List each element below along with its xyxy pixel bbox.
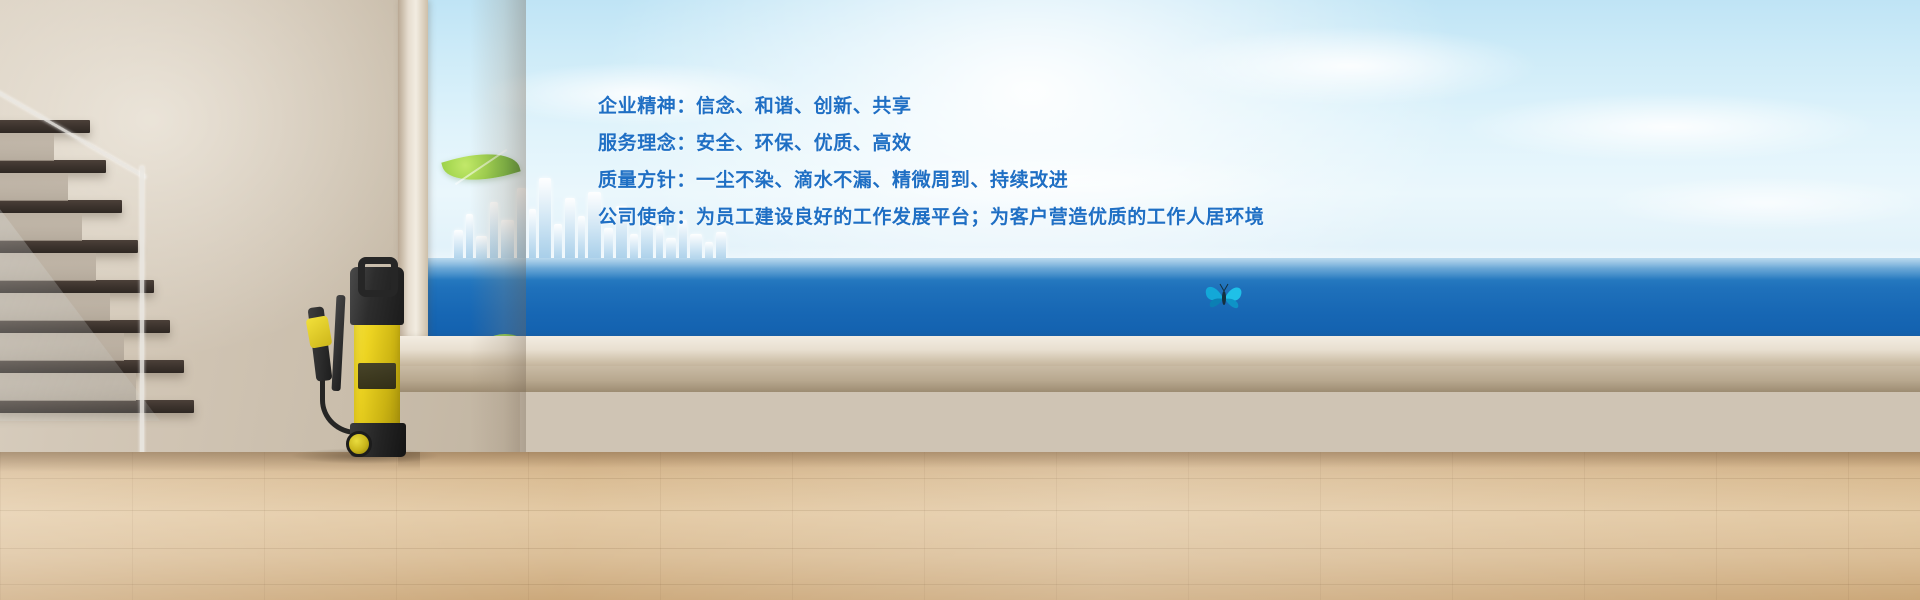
wall-skirting	[398, 366, 1920, 392]
wall-corner-shade	[470, 0, 526, 470]
company-culture-banner: 企业精神：信念、和谐、创新、共享 服务理念：安全、环保、优质、高效 质量方针：一…	[0, 0, 1920, 600]
slogan-line-mission: 公司使命：为员工建设良好的工作发展平台；为客户营造优质的工作人居环境	[598, 199, 1358, 236]
washer-label	[358, 363, 396, 389]
staircase	[0, 120, 200, 460]
floor-wall-shadow	[398, 452, 1920, 468]
floor-reflection	[0, 452, 1920, 600]
washer-wheel	[346, 431, 372, 457]
washer-handle	[358, 257, 398, 297]
stair-post	[140, 166, 144, 466]
slogan-line-spirit: 企业精神：信念、和谐、创新、共享	[598, 88, 1358, 125]
pressure-washer	[306, 255, 426, 460]
slogan-line-service: 服务理念：安全、环保、优质、高效	[598, 125, 1358, 162]
slogan-text-block: 企业精神：信念、和谐、创新、共享 服务理念：安全、环保、优质、高效 质量方针：一…	[598, 88, 1358, 236]
slogan-line-quality: 质量方针：一尘不染、滴水不漏、精微周到、持续改进	[598, 162, 1358, 199]
washer-trigger	[306, 315, 333, 348]
